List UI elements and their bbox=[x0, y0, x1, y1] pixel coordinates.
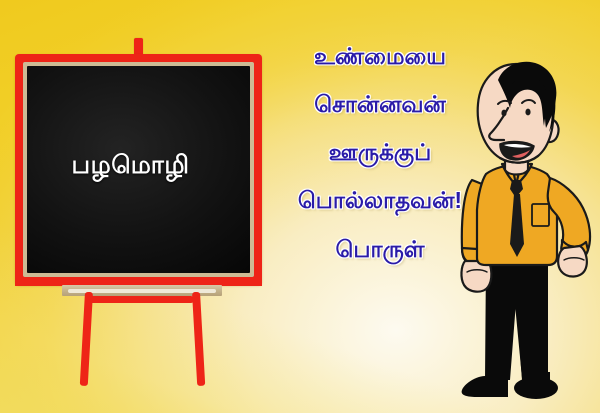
proverb-illustration: பழமொழி உண்மையை சொன்னவன் ஊருக்குப் பொல்லா… bbox=[0, 0, 600, 413]
blackboard-easel: பழமொழி bbox=[0, 0, 290, 413]
cartoon-man bbox=[452, 58, 600, 413]
shoe-left bbox=[462, 376, 508, 397]
blackboard-chalk-text: பழமொழி bbox=[72, 153, 190, 178]
eye-right bbox=[525, 109, 530, 116]
hand-right bbox=[558, 246, 587, 277]
easel-leg-right bbox=[192, 292, 205, 386]
blackboard-inner-border: பழமொழி bbox=[23, 62, 254, 277]
easel-crossbar bbox=[88, 296, 194, 303]
blackboard-frame: பழமொழி bbox=[15, 54, 262, 285]
easel-leg-left bbox=[80, 292, 93, 386]
blackboard-surface: பழமொழி bbox=[27, 66, 250, 273]
